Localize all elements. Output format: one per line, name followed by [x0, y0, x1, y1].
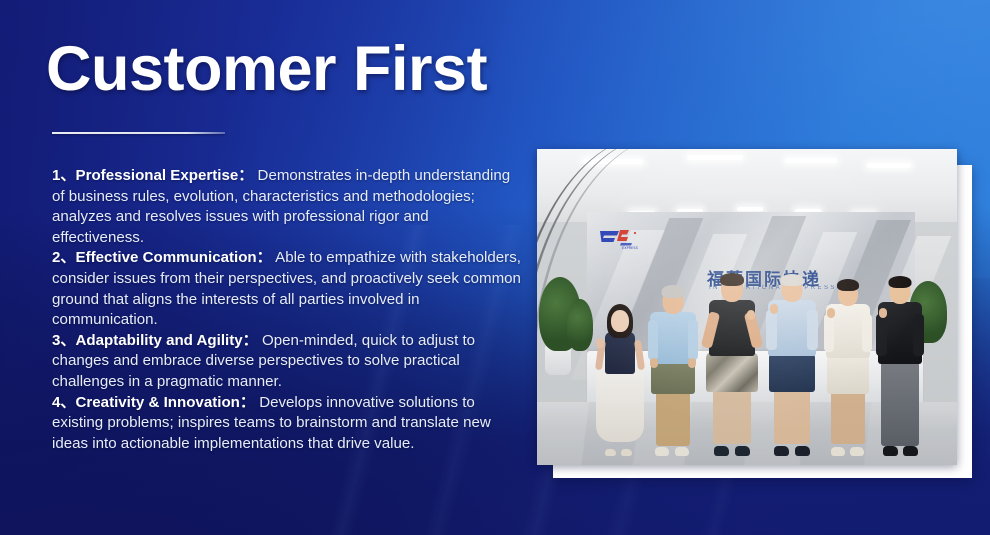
list-item-lead: Adaptability and Agility： [76, 332, 258, 349]
ceiling-light [737, 207, 763, 211]
person [595, 274, 645, 456]
person [823, 256, 873, 456]
ceiling-light [785, 158, 837, 163]
list-item: 2、Effective Communication： Able to empat… [52, 248, 522, 330]
ceiling-light [867, 163, 911, 168]
list-item: 1、Professional Expertise： Demonstrates i… [52, 166, 522, 248]
list-item-lead: Creativity & Innovation： [76, 394, 255, 411]
potted-plant [567, 299, 593, 351]
list-item-index: 2、 [52, 249, 76, 266]
ceiling-light [687, 155, 743, 160]
list-item-lead: Professional Expertise： [76, 167, 254, 184]
bullet-list: 1、Professional Expertise： Demonstrates i… [52, 166, 522, 454]
list-item-lead: Effective Communication： [76, 249, 272, 266]
person [765, 250, 819, 456]
person [703, 248, 761, 456]
title-divider [52, 132, 225, 134]
page-title: Customer First [46, 36, 487, 102]
list-item-index: 3、 [52, 332, 76, 349]
team-photo: EXPRESS 福蓉国际快递 INTERNATIONAL EXPRESS [537, 149, 957, 465]
person [875, 250, 925, 456]
photo-block: EXPRESS 福蓉国际快递 INTERNATIONAL EXPRESS [537, 149, 972, 478]
slide-canvas: Customer First 1、Professional Expertise：… [0, 0, 990, 535]
list-item: 4、Creativity & Innovation： Develops inno… [52, 393, 522, 455]
list-item: 3、Adaptability and Agility： Open-minded,… [52, 331, 522, 393]
list-item-index: 1、 [52, 167, 76, 184]
svg-text:EXPRESS: EXPRESS [622, 246, 639, 250]
company-logo-icon: EXPRESS [597, 228, 641, 250]
list-item-index: 4、 [52, 394, 76, 411]
person [647, 258, 699, 456]
